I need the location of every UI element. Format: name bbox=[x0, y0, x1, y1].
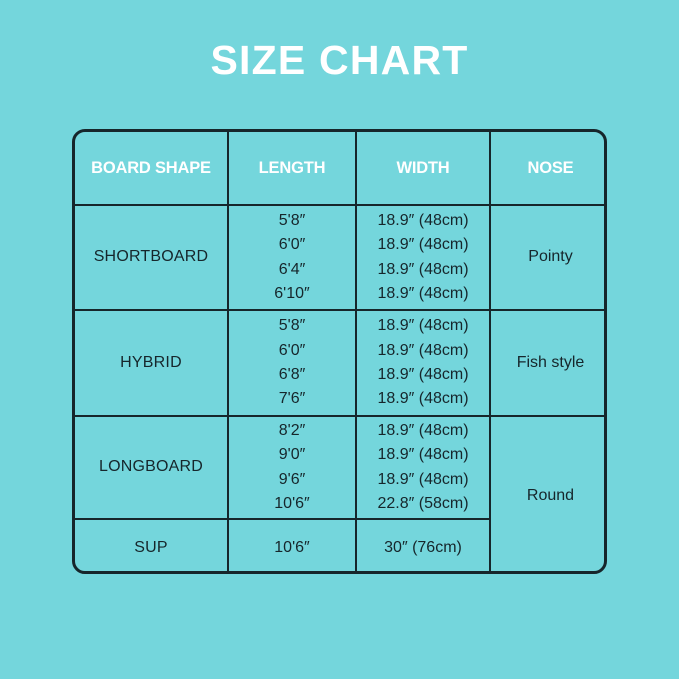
cell-width: 30″ (76cm) bbox=[356, 519, 490, 574]
length-value: 10'6″ bbox=[229, 536, 355, 560]
column-header-width: WIDTH bbox=[356, 132, 490, 205]
width-value: 18.9″ (48cm) bbox=[357, 443, 489, 467]
width-value: 18.9″ (48cm) bbox=[357, 314, 489, 338]
cell-length: 10'6″ bbox=[228, 519, 356, 574]
length-value: 10'6″ bbox=[229, 492, 355, 516]
length-value: 9'0″ bbox=[229, 443, 355, 467]
table-row: SHORTBOARD 5'8″ 6'0″ 6'4″ 6'10″ 18.9″ (4… bbox=[75, 205, 607, 310]
cell-nose: Pointy bbox=[490, 205, 607, 310]
width-value: 30″ (76cm) bbox=[357, 536, 489, 560]
cell-board-shape: HYBRID bbox=[75, 310, 228, 416]
length-value: 6'10″ bbox=[229, 282, 355, 306]
length-value: 6'0″ bbox=[229, 339, 355, 363]
column-header-nose: NOSE bbox=[490, 132, 607, 205]
table-body: SHORTBOARD 5'8″ 6'0″ 6'4″ 6'10″ 18.9″ (4… bbox=[75, 205, 607, 574]
length-value: 7'6″ bbox=[229, 387, 355, 411]
table-header-row: BOARD SHAPE LENGTH WIDTH NOSE bbox=[75, 132, 607, 205]
cell-board-shape: SUP bbox=[75, 519, 228, 574]
cell-nose: Fish style bbox=[490, 310, 607, 416]
column-header-board-shape: BOARD SHAPE bbox=[75, 132, 228, 205]
page-title: SIZE CHART bbox=[0, 38, 679, 83]
length-value: 8'2″ bbox=[229, 419, 355, 443]
cell-length: 5'8″ 6'0″ 6'8″ 7'6″ bbox=[228, 310, 356, 416]
width-value: 18.9″ (48cm) bbox=[357, 419, 489, 443]
width-value: 18.9″ (48cm) bbox=[357, 363, 489, 387]
size-chart-poster: SIZE CHART BOARD SHAPE LENGTH WIDTH NOSE… bbox=[0, 0, 679, 679]
cell-width: 18.9″ (48cm) 18.9″ (48cm) 18.9″ (48cm) 1… bbox=[356, 205, 490, 310]
cell-length: 8'2″ 9'0″ 9'6″ 10'6″ bbox=[228, 416, 356, 519]
width-value: 18.9″ (48cm) bbox=[357, 282, 489, 306]
table-header: BOARD SHAPE LENGTH WIDTH NOSE bbox=[75, 132, 607, 205]
table-row: HYBRID 5'8″ 6'0″ 6'8″ 7'6″ 18.9″ (48cm) … bbox=[75, 310, 607, 416]
column-header-length: LENGTH bbox=[228, 132, 356, 205]
width-value: 22.8″ (58cm) bbox=[357, 492, 489, 516]
size-chart-table-container: BOARD SHAPE LENGTH WIDTH NOSE SHORTBOARD… bbox=[72, 129, 607, 574]
width-value: 18.9″ (48cm) bbox=[357, 233, 489, 257]
cell-width: 18.9″ (48cm) 18.9″ (48cm) 18.9″ (48cm) 2… bbox=[356, 416, 490, 519]
width-value: 18.9″ (48cm) bbox=[357, 258, 489, 282]
cell-nose: Round bbox=[490, 416, 607, 574]
cell-width: 18.9″ (48cm) 18.9″ (48cm) 18.9″ (48cm) 1… bbox=[356, 310, 490, 416]
length-value: 6'4″ bbox=[229, 258, 355, 282]
table-row: LONGBOARD 8'2″ 9'0″ 9'6″ 10'6″ 18.9″ (48… bbox=[75, 416, 607, 519]
width-value: 18.9″ (48cm) bbox=[357, 209, 489, 233]
cell-length: 5'8″ 6'0″ 6'4″ 6'10″ bbox=[228, 205, 356, 310]
length-value: 5'8″ bbox=[229, 209, 355, 233]
length-value: 6'0″ bbox=[229, 233, 355, 257]
length-value: 5'8″ bbox=[229, 314, 355, 338]
cell-board-shape: SHORTBOARD bbox=[75, 205, 228, 310]
length-value: 9'6″ bbox=[229, 468, 355, 492]
width-value: 18.9″ (48cm) bbox=[357, 468, 489, 492]
width-value: 18.9″ (48cm) bbox=[357, 339, 489, 363]
size-chart-table: BOARD SHAPE LENGTH WIDTH NOSE SHORTBOARD… bbox=[75, 132, 607, 574]
cell-board-shape: LONGBOARD bbox=[75, 416, 228, 519]
width-value: 18.9″ (48cm) bbox=[357, 387, 489, 411]
length-value: 6'8″ bbox=[229, 363, 355, 387]
